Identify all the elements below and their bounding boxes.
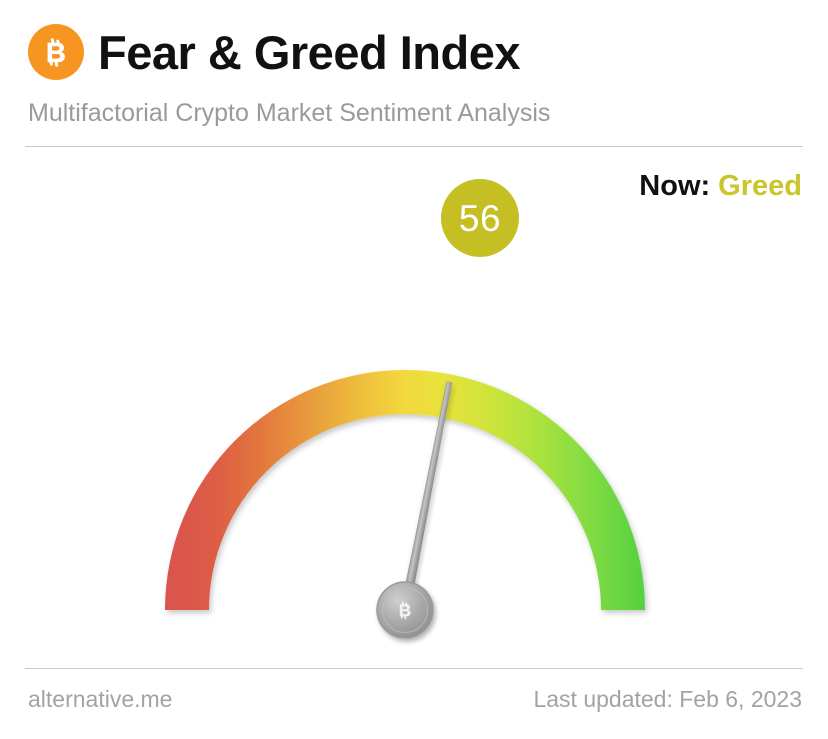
status-now-label: Now:	[639, 170, 710, 202]
gauge-arc	[165, 370, 645, 610]
gauge-value-text: 56	[459, 200, 501, 237]
page-subtitle: Multifactorial Crypto Market Sentiment A…	[28, 101, 550, 126]
gauge-hub	[377, 582, 433, 638]
bitcoin-icon	[28, 24, 84, 80]
brand-row: Fear & Greed Index	[28, 24, 520, 80]
header: Fear & Greed Index Multifactorial Crypto…	[0, 0, 828, 150]
header-divider	[25, 146, 803, 147]
footer-source[interactable]: alternative.me	[28, 688, 172, 711]
gauge-needle	[400, 381, 453, 612]
gauge-svg	[0, 150, 828, 660]
fear-greed-index-card: Fear & Greed Index Multifactorial Crypto…	[0, 0, 828, 739]
gauge-chart: Now:Greed 56	[0, 150, 828, 660]
status-badge: Greed	[718, 170, 802, 202]
page-title: Fear & Greed Index	[98, 29, 520, 76]
gauge-value-badge: 56	[441, 179, 519, 257]
footer-last-updated: Last updated: Feb 6, 2023	[533, 688, 802, 711]
footer-divider	[25, 668, 803, 669]
footer: alternative.me Last updated: Feb 6, 2023	[0, 680, 828, 739]
status-line: Now:Greed	[639, 172, 802, 201]
